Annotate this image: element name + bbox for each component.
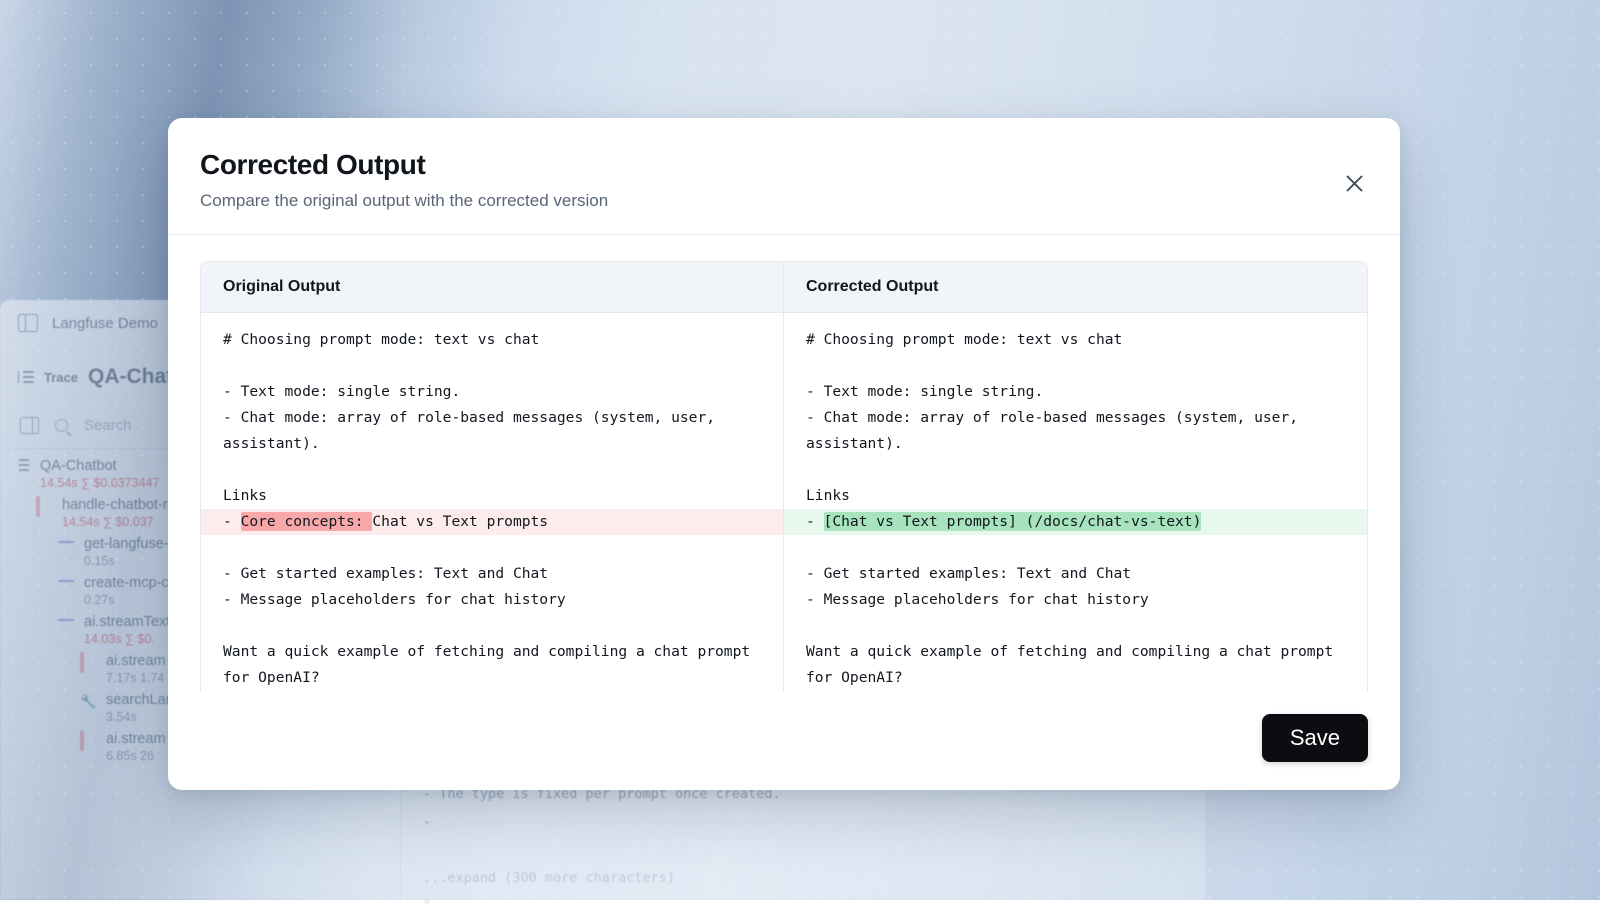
diff-cell-original bbox=[201, 535, 784, 561]
diff-cell-original bbox=[201, 457, 784, 483]
output-code-line: " bbox=[423, 892, 1205, 920]
tree-node-meta: 14.54s ∑ $0.0373447 bbox=[40, 476, 159, 490]
arrow-icon bbox=[58, 613, 76, 646]
diff-row-context: # Choosing prompt mode: text vs chat# Ch… bbox=[201, 313, 1367, 353]
diff-row-context bbox=[201, 457, 1367, 483]
tree-node-label: handle-chatbot-r bbox=[62, 497, 168, 513]
diff-row-context: Want a quick example of fetching and com… bbox=[201, 639, 1367, 692]
dialog-footer: Save bbox=[168, 692, 1400, 790]
dialog-body: Original Output Corrected Output # Choos… bbox=[168, 235, 1400, 692]
background-output-panel: - The type is fixed per prompt once crea… bbox=[400, 780, 1205, 900]
tree-node-label: create-mcp-c bbox=[84, 575, 169, 591]
diff-cell-original bbox=[201, 353, 784, 379]
sidebar-toggle-icon[interactable] bbox=[18, 314, 38, 332]
diff-row-context bbox=[201, 535, 1367, 561]
tree-node-label: QA-Chatbot bbox=[40, 458, 117, 474]
corrected-output-dialog: Corrected Output Compare the original ou… bbox=[168, 118, 1400, 790]
trace-icon bbox=[18, 370, 34, 384]
diff-cell-original: - Core concepts: Chat vs Text prompts bbox=[201, 509, 784, 535]
diff-cell-corrected: Want a quick example of fetching and com… bbox=[784, 639, 1367, 692]
diff-cell-corrected: - Chat mode: array of role-based message… bbox=[784, 405, 1367, 457]
diff-cell-corrected: # Choosing prompt mode: text vs chat bbox=[784, 313, 1367, 353]
diff-cell-original: - Get started examples: Text and Chat bbox=[201, 561, 784, 587]
output-code-line bbox=[423, 836, 1205, 864]
diff-inserted-text: [Chat vs Text prompts] (/docs/chat-vs-te… bbox=[824, 512, 1202, 531]
column-header-original: Original Output bbox=[201, 262, 784, 312]
tree-node-label: ai.stream bbox=[106, 653, 166, 669]
tree-node-meta: 14.03s ∑ $0. bbox=[84, 632, 170, 646]
trace-label: Trace bbox=[44, 370, 78, 385]
diff-row-context: - Chat mode: array of role-based message… bbox=[201, 405, 1367, 457]
output-code-line: ...expand (300 more characters) bbox=[423, 864, 1205, 892]
gear-icon bbox=[80, 730, 98, 763]
diff-row-context: - Message placeholders for chat history-… bbox=[201, 587, 1367, 613]
diff-cell-corrected bbox=[784, 613, 1367, 639]
diff-row-context: - Text mode: single string.- Text mode: … bbox=[201, 379, 1367, 405]
search-icon bbox=[55, 419, 68, 432]
tree-node-meta: 14.54s ∑ $0.037 bbox=[62, 515, 168, 529]
arrow-icon bbox=[58, 574, 76, 607]
diff-cell-original: Want a quick example of fetching and com… bbox=[201, 639, 784, 692]
close-icon bbox=[1345, 174, 1364, 193]
diff-cell-original: # Choosing prompt mode: text vs chat bbox=[201, 313, 784, 353]
tree-icon bbox=[14, 457, 32, 490]
diff-cell-original: - Text mode: single string. bbox=[201, 379, 784, 405]
diff-cell-corrected: Links bbox=[784, 483, 1367, 509]
gear-icon bbox=[80, 652, 98, 685]
tree-node-label: ai.stream bbox=[106, 731, 166, 747]
diff-cell-original: - Message placeholders for chat history bbox=[201, 587, 784, 613]
diff-cell-corrected bbox=[784, 535, 1367, 561]
gear-icon bbox=[36, 496, 54, 529]
arrow-icon bbox=[58, 535, 76, 568]
wrench-icon: 🔧 bbox=[80, 691, 98, 724]
diff-cell-corrected: - Text mode: single string. bbox=[784, 379, 1367, 405]
tree-node-meta: 7.17s 1,74 bbox=[106, 671, 166, 685]
diff-row-context: - Get started examples: Text and Chat- G… bbox=[201, 561, 1367, 587]
diff-row-context: LinksLinks bbox=[201, 483, 1367, 509]
dialog-subtitle: Compare the original output with the cor… bbox=[200, 190, 1368, 212]
workspace-name: Langfuse Demo bbox=[52, 315, 158, 332]
tree-node-label: get-langfuse- bbox=[84, 536, 169, 552]
tree-node-meta: 0.15s bbox=[84, 554, 169, 568]
page-title: Corrected Output bbox=[200, 148, 1368, 182]
diff-cell-original bbox=[201, 613, 784, 639]
diff-table-header: Original Output Corrected Output bbox=[201, 262, 1367, 313]
save-button[interactable]: Save bbox=[1262, 714, 1368, 762]
tree-node-label: searchLan bbox=[106, 692, 174, 708]
collapse-panel-icon[interactable] bbox=[20, 417, 39, 434]
diff-cell-corrected: - [Chat vs Text prompts] (/docs/chat-vs-… bbox=[784, 509, 1367, 535]
diff-table: Original Output Corrected Output # Choos… bbox=[200, 261, 1368, 692]
close-button[interactable] bbox=[1341, 170, 1367, 196]
diff-deleted-text: Core concepts: bbox=[241, 512, 373, 531]
tree-node-meta: 3.54s bbox=[106, 710, 174, 724]
diff-cell-corrected bbox=[784, 353, 1367, 379]
diff-table-body: # Choosing prompt mode: text vs chat# Ch… bbox=[201, 313, 1367, 692]
tree-node-meta: 6.85s 26 bbox=[106, 749, 166, 763]
diff-row-context bbox=[201, 353, 1367, 379]
diff-row-context bbox=[201, 613, 1367, 639]
tree-node-meta: 0.27s bbox=[84, 593, 169, 607]
dialog-header: Corrected Output Compare the original ou… bbox=[168, 118, 1400, 235]
tree-node-label: ai.streamText bbox=[84, 614, 170, 630]
diff-cell-original: Links bbox=[201, 483, 784, 509]
diff-row-changed: - Core concepts: Chat vs Text prompts- [… bbox=[201, 509, 1367, 535]
diff-cell-corrected: - Get started examples: Text and Chat bbox=[784, 561, 1367, 587]
column-header-corrected: Corrected Output bbox=[784, 262, 1367, 312]
output-code-line: - bbox=[423, 808, 1205, 836]
diff-cell-original: - Chat mode: array of role-based message… bbox=[201, 405, 784, 457]
diff-cell-corrected bbox=[784, 457, 1367, 483]
diff-cell-corrected: - Message placeholders for chat history bbox=[784, 587, 1367, 613]
search-input[interactable]: Search bbox=[84, 417, 132, 434]
